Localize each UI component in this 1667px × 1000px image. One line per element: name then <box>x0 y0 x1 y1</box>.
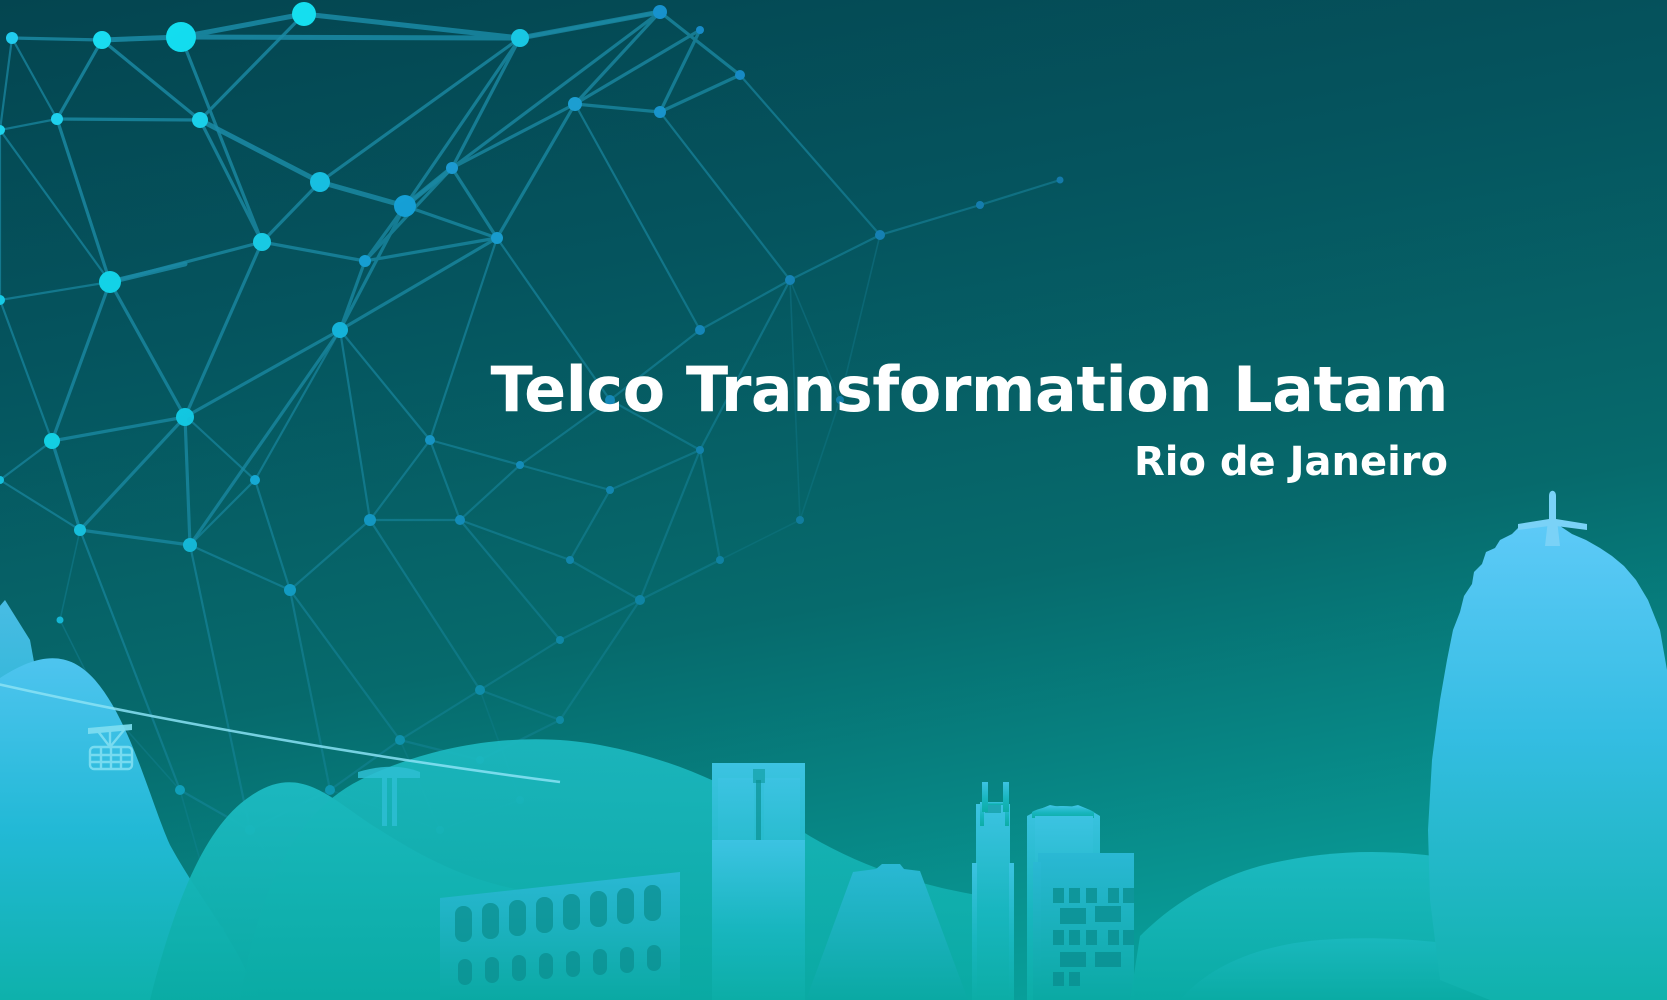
twin-towers <box>712 763 805 1000</box>
rio-landscape <box>0 0 1667 1000</box>
hotel-block <box>1033 853 1134 1000</box>
corcovado-christ-redeemer <box>1428 491 1667 1000</box>
tall-tower <box>972 782 1014 1000</box>
title-slide: Telco Transformation Latam Rio de Janeir… <box>0 0 1667 1000</box>
